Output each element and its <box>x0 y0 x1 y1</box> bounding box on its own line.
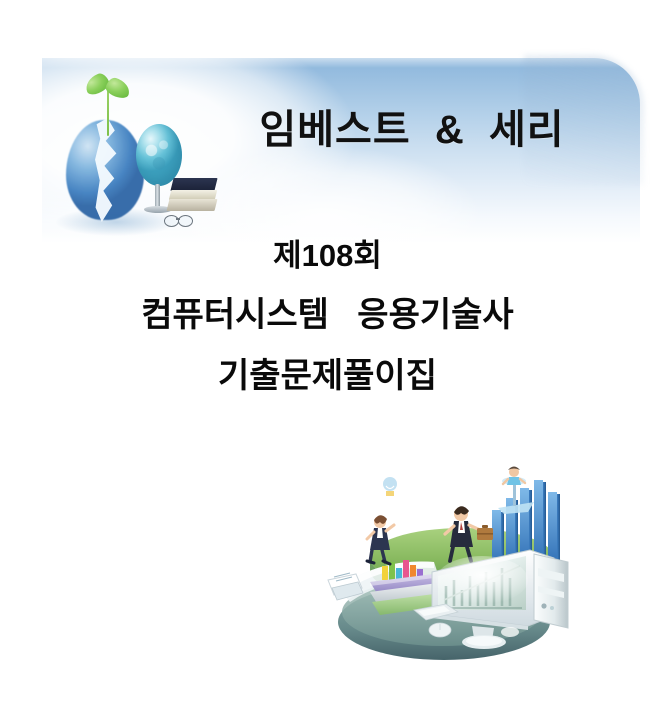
banner-title: 임베스트 & 세리 <box>202 110 622 150</box>
book-bottom-icon <box>167 199 218 211</box>
glasses-right-lens-icon <box>178 215 193 227</box>
computer-tower <box>534 554 568 628</box>
disc-highlight <box>501 627 519 637</box>
business-technology-illustration <box>322 462 580 662</box>
header-banner: 임베스트 & 세리 <box>42 58 640 243</box>
floating-icons <box>383 477 490 501</box>
globe-stand-neck <box>155 184 160 208</box>
book-type-heading: 기출문제풀이집 <box>0 359 655 393</box>
exam-session-heading: 제108회 <box>0 240 655 271</box>
globe-texture <box>140 132 178 178</box>
title-block: 제108회 컴퓨터시스템 응용기술사 기출문제풀이집 <box>0 240 655 393</box>
exam-subject-heading: 컴퓨터시스템 응용기술사 <box>0 298 655 332</box>
banner-artwork <box>52 58 232 243</box>
glasses-left-lens-icon <box>164 215 179 227</box>
glasses-bridge-icon <box>176 218 180 220</box>
illustration-svg <box>322 462 580 662</box>
mouse <box>429 623 451 637</box>
poster-page: 임베스트 & 세리 제108회 컴퓨터시스템 응용기술사 기출문제풀이집 <box>0 0 655 726</box>
